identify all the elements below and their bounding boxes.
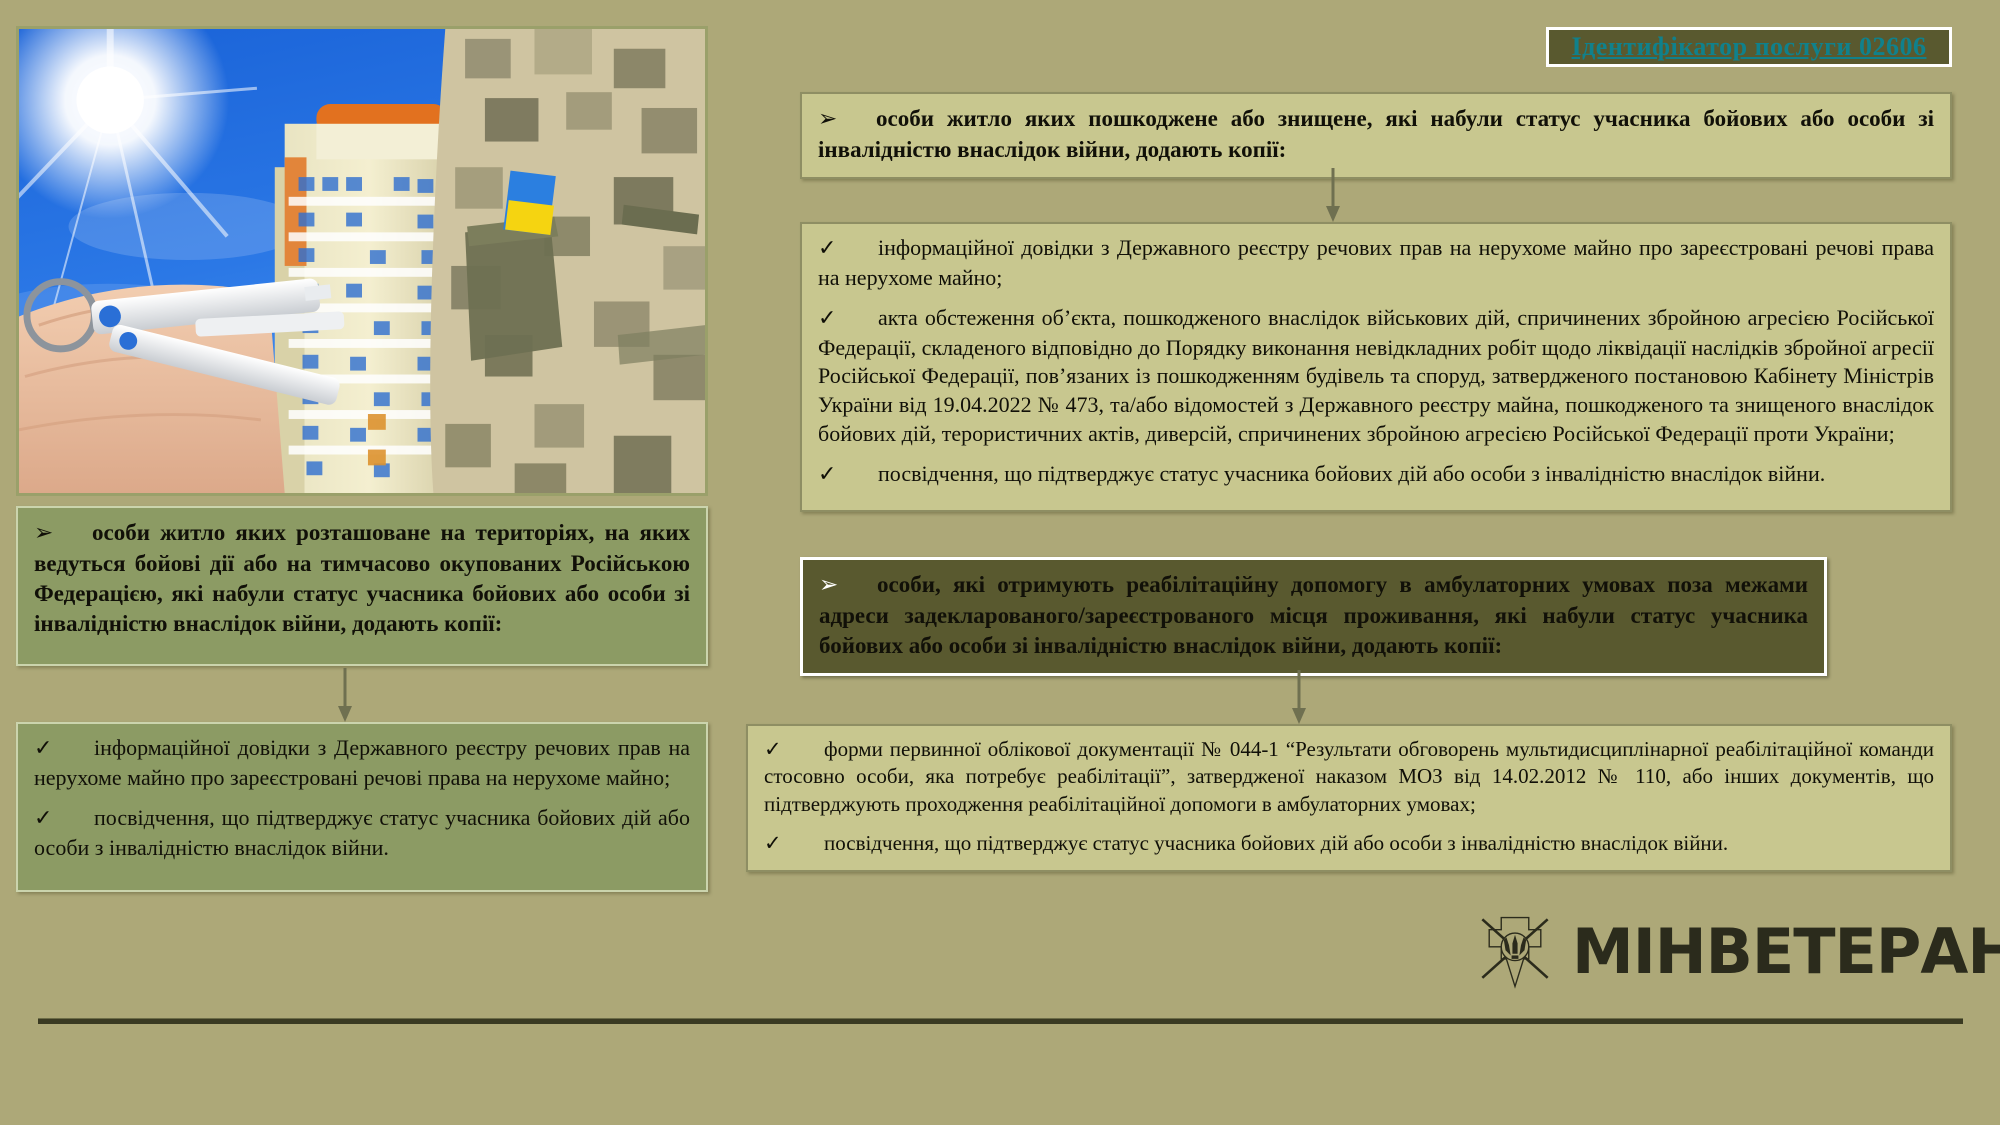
minveteraniv-logo: МІНВЕТЕРАНІВ bbox=[1472, 908, 2000, 996]
right-doc-1-item-2: ✓акта обстеження об’єкта, пошкодженого в… bbox=[818, 304, 1934, 448]
connector-arrow-right-1 bbox=[1326, 168, 1340, 224]
minveteraniv-emblem-icon bbox=[1472, 909, 1558, 995]
right-doc-2-item-1: ✓форми первинної облікової документації … bbox=[764, 736, 1934, 818]
minveteraniv-wordmark: МІНВЕТЕРАНІВ bbox=[1572, 921, 2000, 983]
check-bullet-icon: ✓ bbox=[764, 830, 824, 857]
check-bullet-icon: ✓ bbox=[764, 736, 824, 763]
right-category-box-1: ➢особи житло яких пошкоджене або знищене… bbox=[800, 92, 1952, 179]
right-doc-2-item-2: ✓посвідчення, що підтверджує статус учас… bbox=[764, 830, 1934, 857]
check-bullet-icon: ✓ bbox=[34, 805, 94, 834]
arrow-bullet-icon: ➢ bbox=[818, 105, 876, 135]
left-documents-box: ✓інформаційної довідки з Державного реєс… bbox=[16, 722, 708, 892]
right-doc-1-item-3: ✓посвідчення, що підтверджує статус учас… bbox=[818, 460, 1934, 490]
check-bullet-icon: ✓ bbox=[818, 235, 878, 264]
connector-arrow-right-2 bbox=[1292, 670, 1306, 726]
left-category-text: ➢особи житло яких розташоване на територ… bbox=[34, 518, 690, 639]
service-identifier-badge[interactable]: Ідентифікатор послуги 02606 bbox=[1546, 27, 1952, 67]
left-category-box: ➢особи житло яких розташоване на територ… bbox=[16, 506, 708, 666]
footer-divider bbox=[38, 1018, 1963, 1024]
arrow-bullet-icon: ➢ bbox=[34, 519, 92, 549]
connector-arrow-left-1 bbox=[338, 668, 352, 724]
slide-canvas: Ідентифікатор послуги 02606 ➢особи житло… bbox=[0, 0, 2000, 1125]
right-documents-box-1: ✓інформаційної довідки з Державного реєс… bbox=[800, 222, 1952, 512]
right-category-1-text: ➢особи житло яких пошкоджене або знищене… bbox=[818, 104, 1934, 165]
left-doc-item-2: ✓посвідчення, що підтверджує статус учас… bbox=[34, 804, 690, 862]
check-bullet-icon: ✓ bbox=[818, 305, 878, 334]
right-category-box-2: ➢особи, які отримують реабілітаційну доп… bbox=[800, 557, 1827, 676]
left-doc-item-1: ✓інформаційної довідки з Державного реєс… bbox=[34, 734, 690, 792]
keys-in-hand-photo bbox=[16, 26, 708, 496]
service-identifier-link[interactable]: Ідентифікатор послуги 02606 bbox=[1572, 32, 1927, 62]
check-bullet-icon: ✓ bbox=[818, 461, 878, 490]
check-bullet-icon: ✓ bbox=[34, 735, 94, 764]
right-documents-box-2: ✓форми первинної облікової документації … bbox=[746, 724, 1952, 872]
arrow-bullet-icon: ➢ bbox=[819, 571, 877, 601]
right-category-2-text: ➢особи, які отримують реабілітаційну доп… bbox=[819, 570, 1808, 661]
right-doc-1-item-1: ✓інформаційної довідки з Державного реєс… bbox=[818, 234, 1934, 292]
